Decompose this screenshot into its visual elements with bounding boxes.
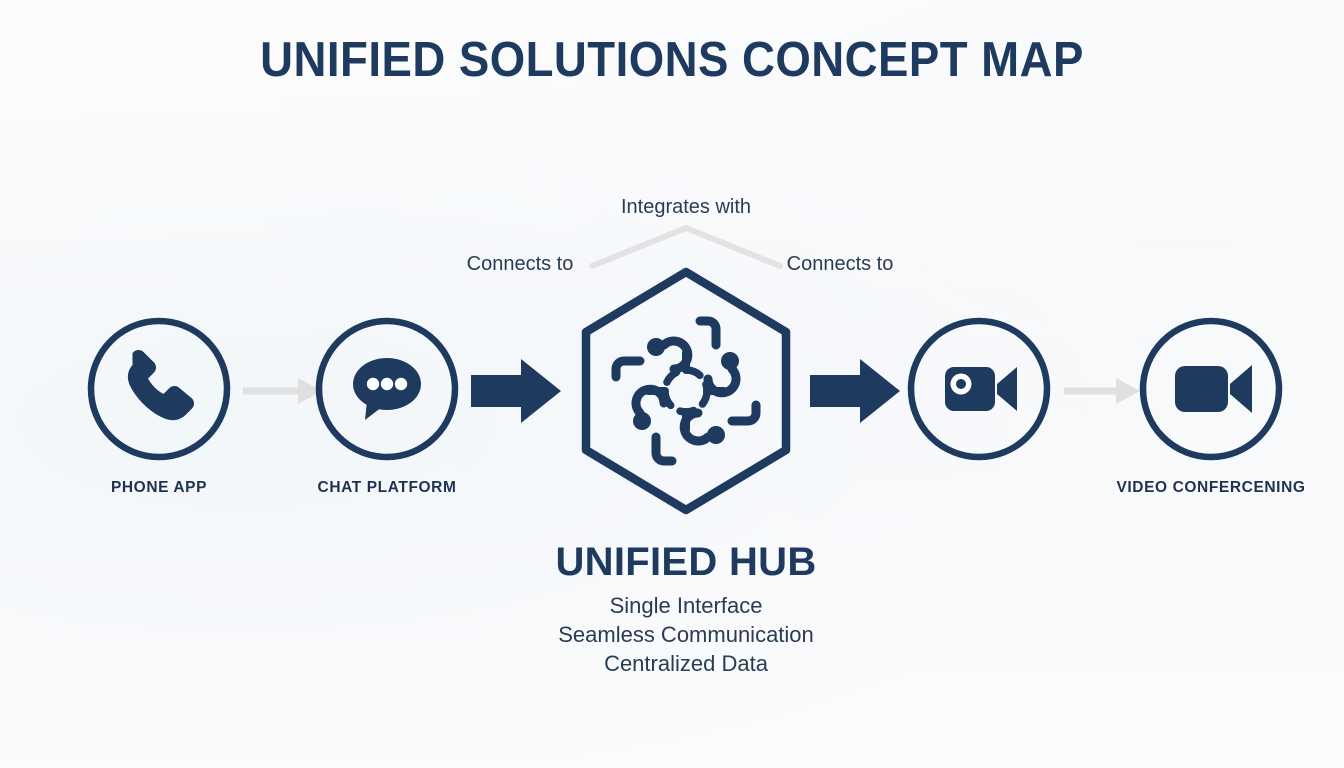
- node-circle-phone-app: [91, 321, 227, 457]
- hub-title: UNIFIED HUB: [555, 540, 816, 585]
- node-video-conferencing[interactable]: [1143, 321, 1279, 457]
- edge-hub-video: [810, 359, 900, 423]
- hub-feature-3: Centralized Data: [604, 651, 768, 677]
- edge-phone-chat: [243, 378, 322, 404]
- video-camera-icon: [945, 367, 1017, 411]
- node-chat-platform[interactable]: [319, 321, 455, 457]
- edge-video-conf: [1064, 378, 1140, 404]
- edge-chat-hub: [471, 359, 561, 423]
- concept-map-canvas: UNIFIED SOLUTIONS CONCEPT MAP: [0, 0, 1344, 768]
- phone-icon: [130, 353, 191, 418]
- chat-bubble-icon: [353, 358, 421, 420]
- network-hub-icon: [616, 321, 756, 461]
- hub-chevron-connectors: [592, 228, 780, 266]
- node-hexagon-unified-hub: [586, 272, 786, 510]
- node-phone-app[interactable]: [91, 321, 227, 457]
- node-label-video-conferencing: VIDEO CONFERCENING: [1116, 479, 1305, 497]
- node-label-phone-app: PHONE APP: [111, 479, 207, 497]
- hub-feature-1: Single Interface: [610, 593, 763, 619]
- node-unified-hub[interactable]: [586, 272, 786, 510]
- edge-label-connects-right: Connects to: [787, 253, 894, 276]
- camcorder-icon: [1175, 365, 1252, 413]
- node-label-chat-platform: CHAT PLATFORM: [318, 479, 457, 497]
- node-video-camera[interactable]: [911, 321, 1047, 457]
- edge-label-connects-left: Connects to: [467, 253, 574, 276]
- hub-feature-2: Seamless Communication: [558, 622, 814, 648]
- edge-label-integrates-with: Integrates with: [621, 196, 751, 219]
